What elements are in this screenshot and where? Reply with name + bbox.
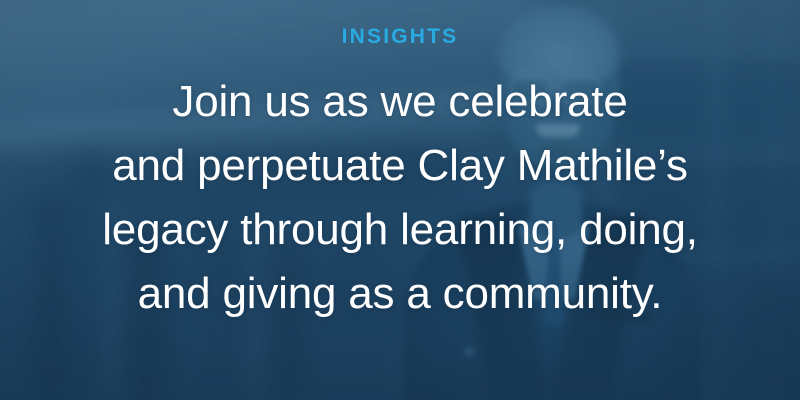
headline-line: and perpetuate Clay Mathile’s [30, 134, 770, 198]
banner-content: INSIGHTS Join us as we celebrate and per… [0, 0, 800, 400]
headline-line: legacy through learning, doing, [30, 198, 770, 262]
headline-line: and giving as a community. [30, 262, 770, 326]
insights-hero-banner: INSIGHTS Join us as we celebrate and per… [0, 0, 800, 400]
eyebrow-label: INSIGHTS [342, 26, 459, 47]
headline: Join us as we celebrate and perpetuate C… [30, 70, 770, 326]
headline-line: Join us as we celebrate [30, 70, 770, 134]
